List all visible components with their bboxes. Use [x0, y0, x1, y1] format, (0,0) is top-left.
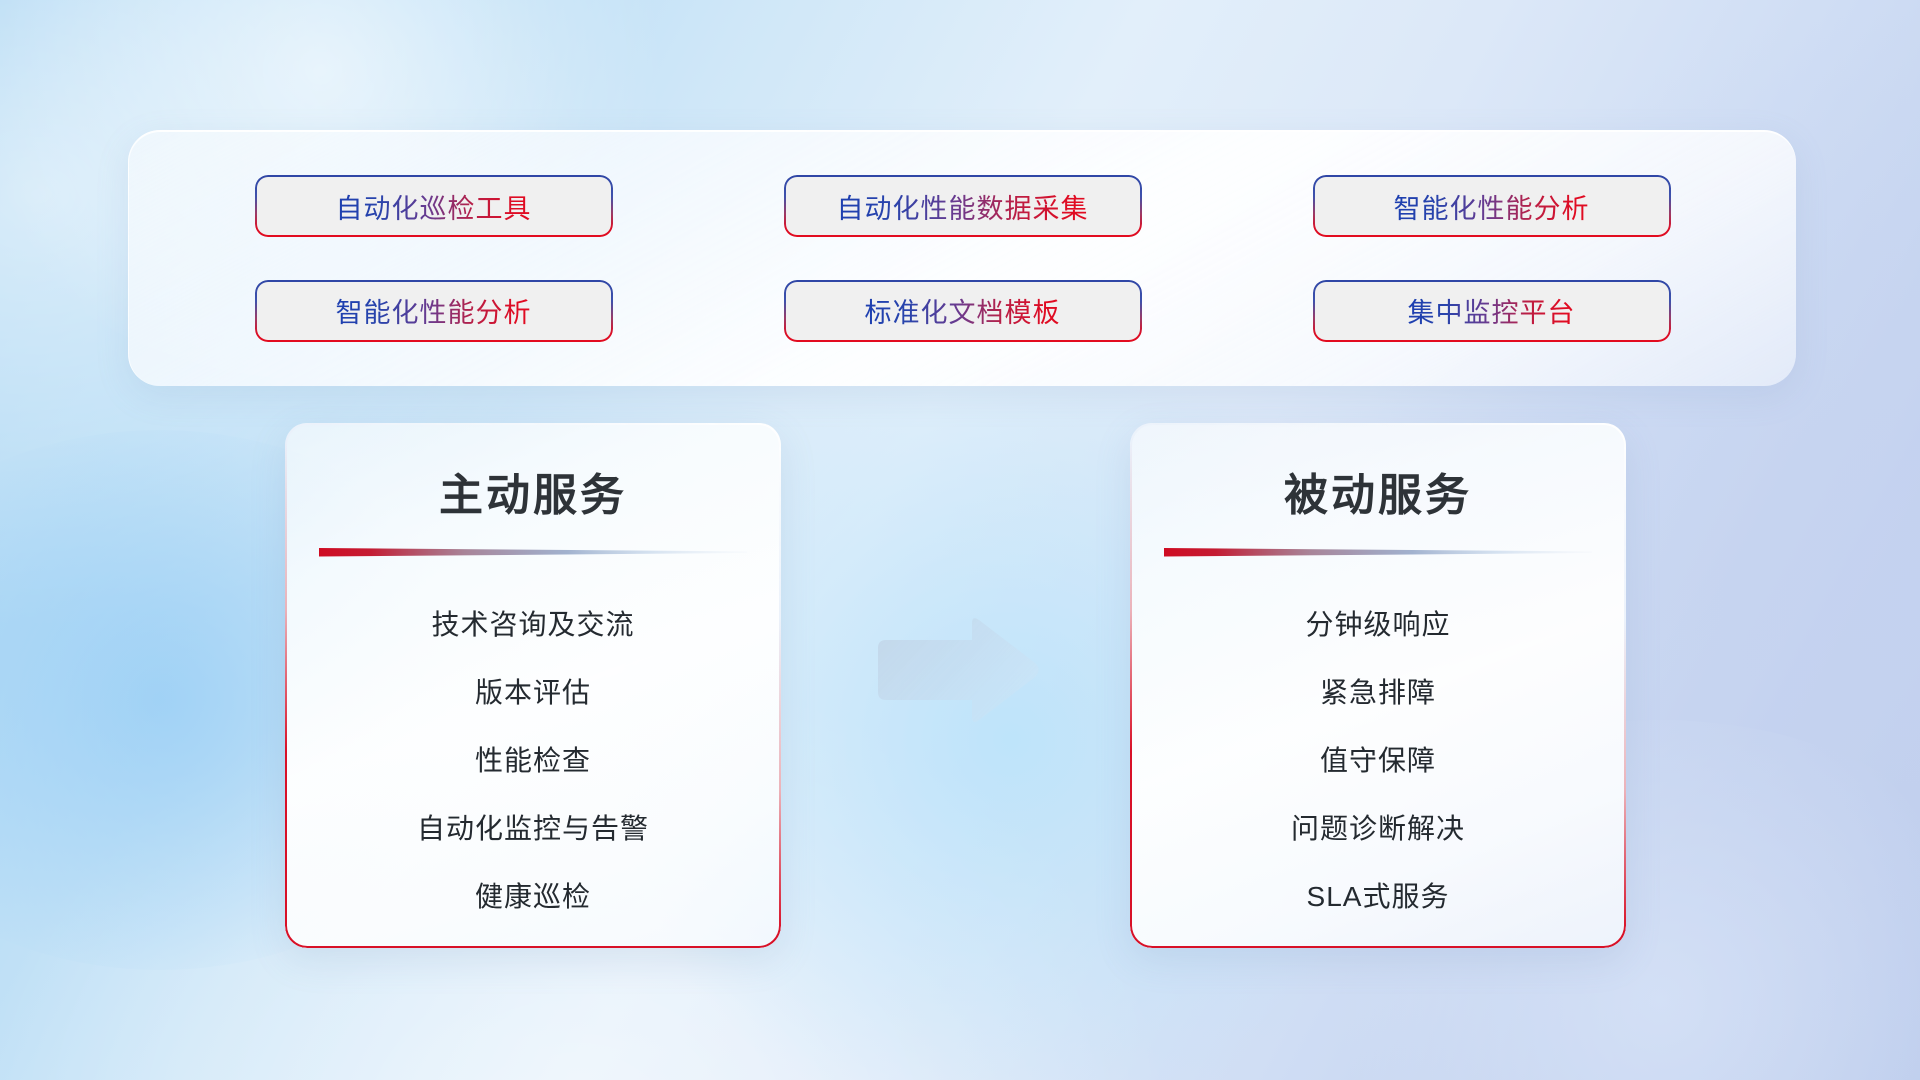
capabilities-panel: 自动化巡检工具 自动化性能数据采集 智能化性能分析 智能化性能分析: [128, 130, 1796, 386]
capability-pill-label: 自动化巡检工具: [336, 187, 532, 226]
active-service-title: 主动服务: [285, 423, 781, 523]
capability-pill[interactable]: 标准化文档模板: [784, 280, 1142, 342]
capability-pill-surface: 集中监控平台: [1313, 280, 1671, 342]
capability-pill-surface: 自动化性能数据采集: [784, 175, 1142, 237]
gradient-divider: [1164, 545, 1592, 559]
capability-pill-label: 智能化性能分析: [1394, 187, 1590, 226]
list-item: SLA式服务: [1130, 861, 1626, 929]
capability-pill-surface: 智能化性能分析: [255, 280, 613, 342]
gradient-divider: [319, 545, 747, 559]
list-item: 版本评估: [285, 657, 781, 725]
slide-canvas: 自动化巡检工具 自动化性能数据采集 智能化性能分析 智能化性能分析: [0, 0, 1920, 1080]
capability-pill[interactable]: 智能化性能分析: [255, 280, 613, 342]
list-item: 紧急排障: [1130, 657, 1626, 725]
capability-pill[interactable]: 自动化性能数据采集: [784, 175, 1142, 237]
passive-service-title: 被动服务: [1130, 423, 1626, 523]
capability-pill[interactable]: 自动化巡检工具: [255, 175, 613, 237]
passive-service-list: 分钟级响应 紧急排障 值守保障 问题诊断解决 SLA式服务: [1130, 559, 1626, 929]
capability-pill-label: 集中监控平台: [1408, 291, 1576, 330]
arrow-right-icon: [872, 615, 1042, 725]
list-item: 性能检查: [285, 725, 781, 793]
capability-pill-label: 自动化性能数据采集: [837, 187, 1089, 226]
list-item: 健康巡检: [285, 861, 781, 929]
list-item: 问题诊断解决: [1130, 793, 1626, 861]
list-item: 技术咨询及交流: [285, 589, 781, 657]
capability-pill-surface: 智能化性能分析: [1313, 175, 1671, 237]
capability-pill-surface: 标准化文档模板: [784, 280, 1142, 342]
passive-service-card: 被动服务 分钟级响应 紧急排障 值守保障 问题诊断解决 SLA式服务: [1130, 423, 1626, 948]
capability-pill-grid: 自动化巡检工具 自动化性能数据采集 智能化性能分析 智能化性能分析: [129, 131, 1796, 386]
list-item: 分钟级响应: [1130, 589, 1626, 657]
active-service-list: 技术咨询及交流 版本评估 性能检查 自动化监控与告警 健康巡检: [285, 559, 781, 929]
capability-pill-label: 标准化文档模板: [865, 291, 1061, 330]
capability-pill-label: 智能化性能分析: [336, 291, 532, 330]
capability-pill-surface: 自动化巡检工具: [255, 175, 613, 237]
list-item: 自动化监控与告警: [285, 793, 781, 861]
list-item: 值守保障: [1130, 725, 1626, 793]
active-service-card: 主动服务 技术咨询及交流 版本评估 性能检查 自动化监控与告警 健康巡检: [285, 423, 781, 948]
capability-pill[interactable]: 集中监控平台: [1313, 280, 1671, 342]
capability-pill[interactable]: 智能化性能分析: [1313, 175, 1671, 237]
